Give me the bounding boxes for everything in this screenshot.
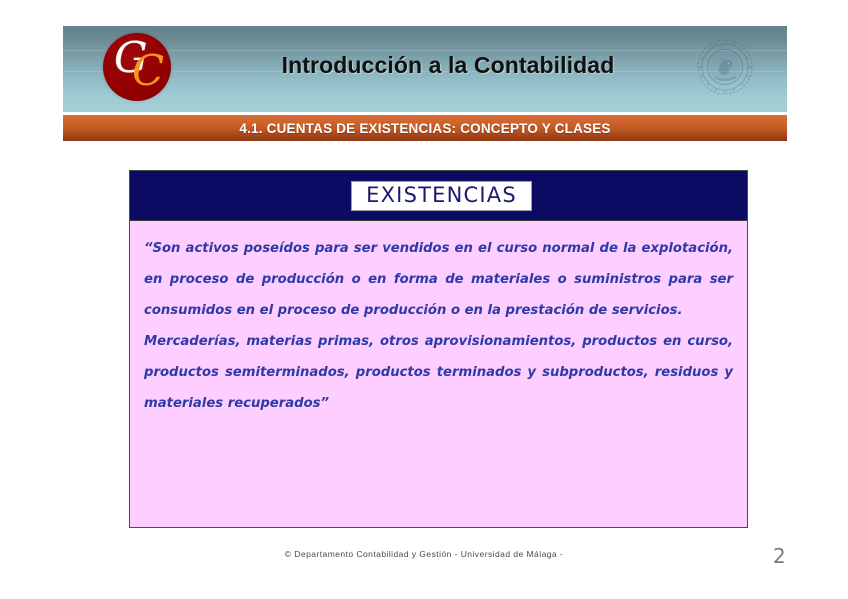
slide: G C Introducción a la Contabilidad bbox=[0, 0, 848, 599]
logo-letter-c-icon: C bbox=[132, 50, 164, 92]
page-number: 2 bbox=[773, 544, 786, 568]
footer-credit: © Departamento Contabilidad y Gestión - … bbox=[0, 549, 848, 559]
header-hairline-1 bbox=[63, 50, 787, 51]
section-bar-label: 4.1. CUENTAS DE EXISTENCIAS: CONCEPTO Y … bbox=[239, 121, 610, 136]
definition-paragraph-1: “Son activos poseídos para ser vendidos … bbox=[144, 233, 733, 326]
section-bar: 4.1. CUENTAS DE EXISTENCIAS: CONCEPTO Y … bbox=[63, 115, 787, 141]
definition-title: EXISTENCIAS bbox=[366, 183, 517, 207]
universidad-de-malaga-seal-icon bbox=[695, 37, 755, 97]
definition-title-chip: EXISTENCIAS bbox=[351, 181, 532, 211]
definition-panel: EXISTENCIAS “Son activos poseídos para s… bbox=[129, 170, 748, 528]
definition-panel-header: EXISTENCIAS bbox=[130, 171, 747, 221]
gc-monogram-logo: G C bbox=[103, 33, 171, 101]
page-title: Introducción a la Contabilidad bbox=[213, 52, 683, 79]
header-banner: G C Introducción a la Contabilidad bbox=[63, 26, 787, 112]
logo-monogram: G C bbox=[103, 33, 171, 101]
definition-paragraph-2: Mercaderías, materias primas, otros apro… bbox=[144, 326, 733, 419]
definition-panel-body: “Son activos poseídos para ser vendidos … bbox=[130, 221, 747, 419]
